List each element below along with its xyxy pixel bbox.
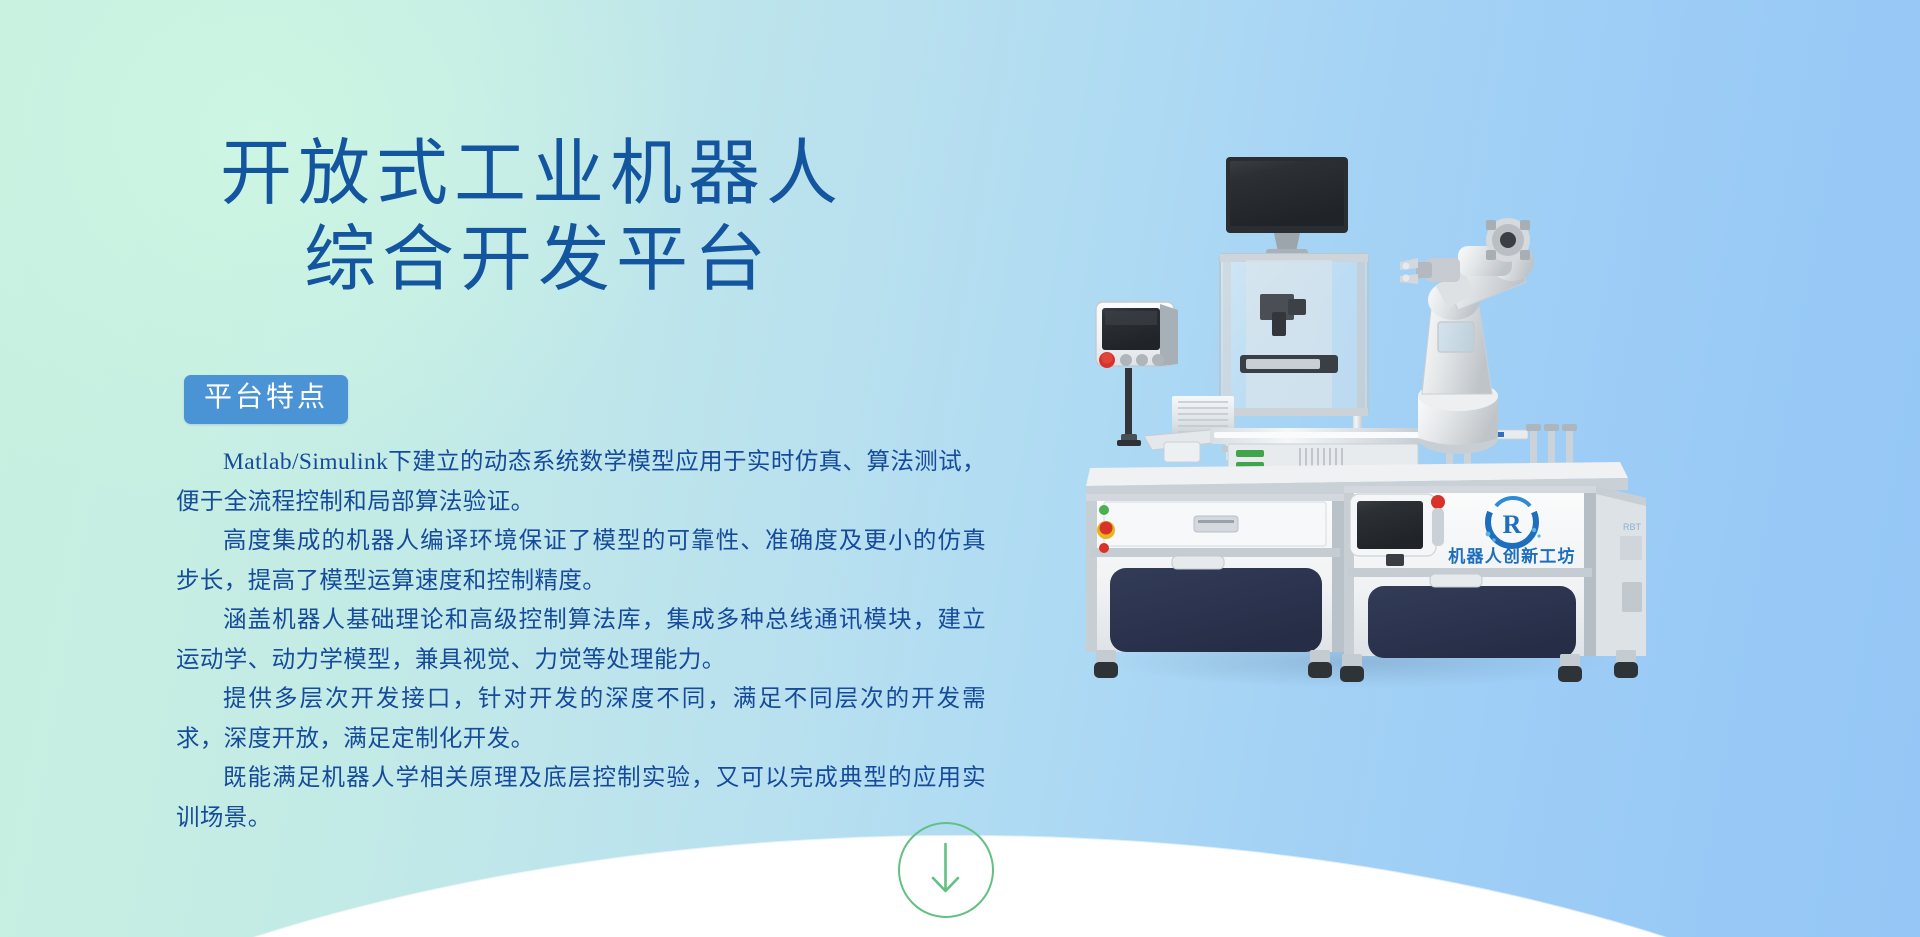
control-cabinet-right: R 机器人创新工坊 bbox=[1344, 486, 1596, 658]
robot-arm bbox=[1400, 218, 1534, 454]
feature-paragraphs: Matlab/Simulink下建立的动态系统数学模型应用于实时仿真、算法测试，… bbox=[176, 443, 986, 838]
indicator-red bbox=[1099, 543, 1109, 553]
indicator-green bbox=[1099, 505, 1109, 515]
svg-text:RBT: RBT bbox=[1623, 522, 1642, 532]
section-badge-platform-features: 平台特点 bbox=[184, 375, 348, 424]
feature-paragraph: 高度集成的机器人编译环境保证了模型的可靠性、准确度及更小的仿真步长，提高了模型运… bbox=[176, 522, 986, 601]
brand-text: 机器人创新工坊 bbox=[1448, 546, 1575, 566]
page-title: 开放式工业机器人 综合开发平台 bbox=[214, 131, 974, 303]
feature-paragraph: Matlab/Simulink下建立的动态系统数学模型应用于实时仿真、算法测试，… bbox=[176, 443, 986, 522]
overhead-monitor bbox=[1226, 157, 1348, 256]
hmi-panel bbox=[1096, 302, 1178, 446]
hero-content: 开放式工业机器人 综合开发平台 平台特点 Matlab/Simulink下建立的… bbox=[0, 0, 1010, 937]
feature-paragraph: 提供多层次开发接口，针对开发的深度不同，满足不同层次的开发需求，深度开放，满足定… bbox=[176, 680, 986, 759]
side-panel-right: RBT bbox=[1596, 486, 1646, 656]
feature-paragraph: 涵盖机器人基础理论和高级控制算法库，集成多种总线通讯模块，建立运动学、动力学模型… bbox=[176, 601, 986, 680]
scroll-down-button[interactable]: 向下滚动 bbox=[898, 822, 994, 918]
gripper bbox=[1400, 258, 1460, 284]
svg-text:R: R bbox=[1503, 510, 1522, 539]
page-title-line-1: 开放式工业机器人 bbox=[214, 131, 974, 217]
hero-banner: 开放式工业机器人 综合开发平台 平台特点 Matlab/Simulink下建立的… bbox=[0, 0, 1920, 937]
product-illustration: R 机器人创新工坊 RBT bbox=[1060, 150, 1700, 790]
arrow-down-icon bbox=[933, 844, 958, 891]
page-title-line-2: 综合开发平台 bbox=[214, 217, 974, 303]
feature-paragraph: 既能满足机器人学相关原理及底层控制实验，又可以完成典型的应用实训场景。 bbox=[176, 759, 986, 838]
control-cabinet-left bbox=[1086, 494, 1344, 652]
